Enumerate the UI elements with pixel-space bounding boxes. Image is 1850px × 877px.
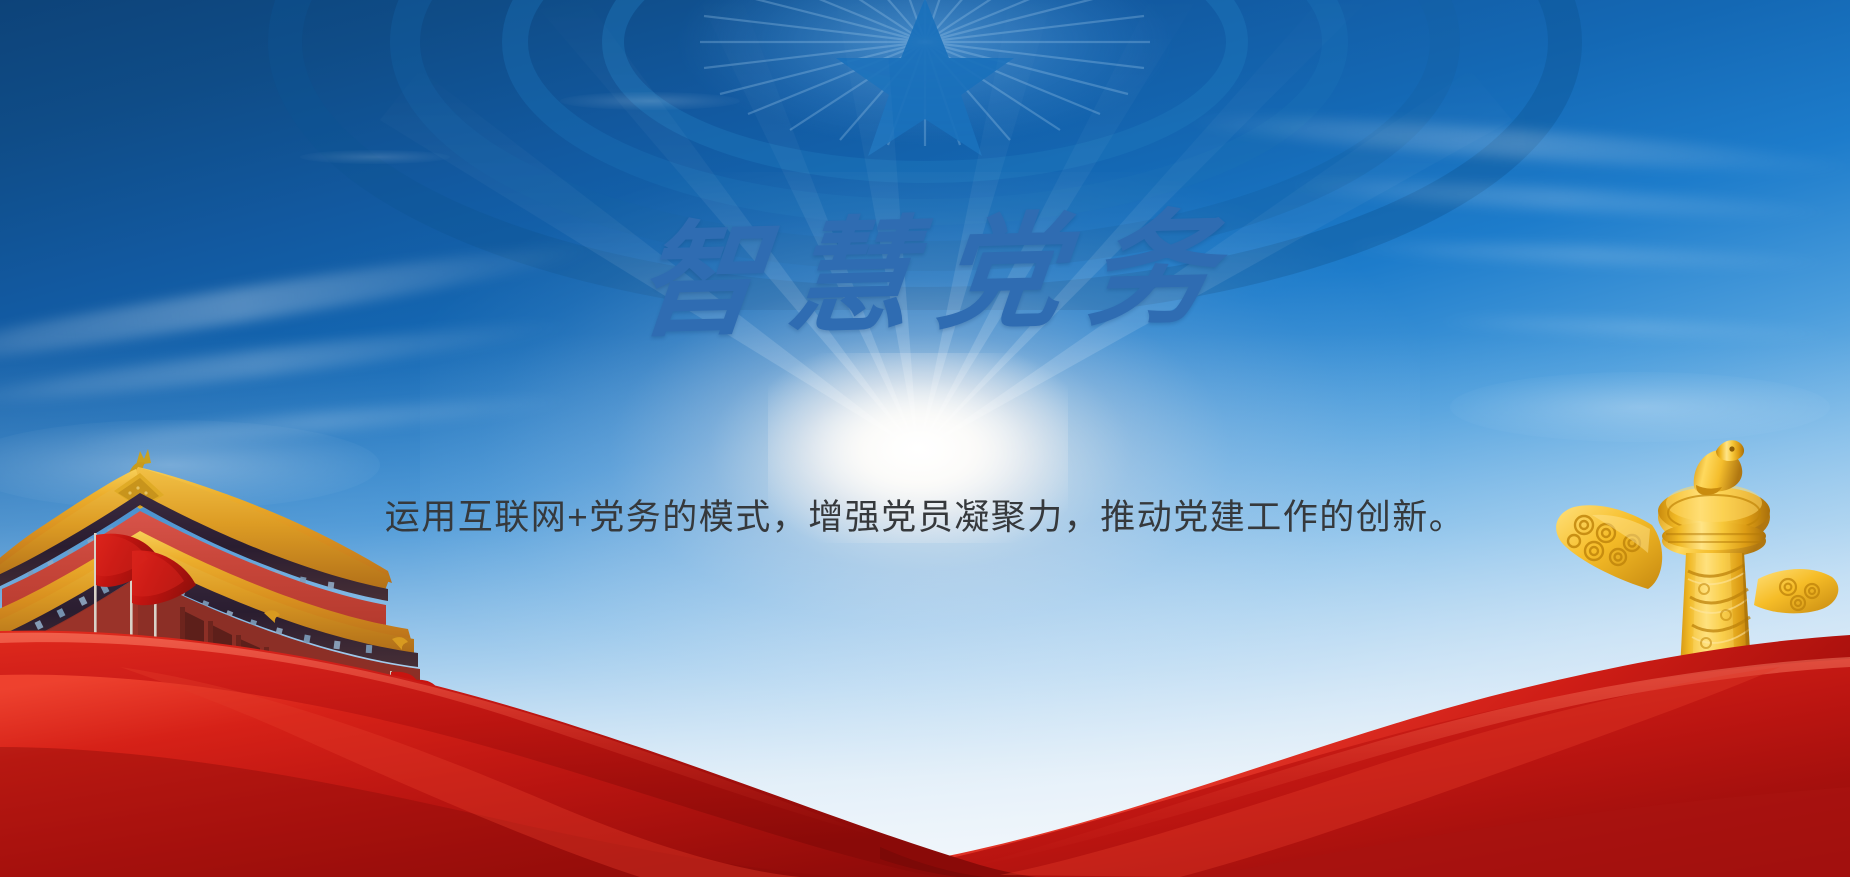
party-affairs-banner: 智慧党务 运用互联网+党务的模式，增强党员凝聚力，推动党建工作的创新。 xyxy=(0,0,1850,877)
cloud-wing-left xyxy=(1556,505,1662,589)
red-silk-ribbon xyxy=(0,597,1850,877)
round-disc xyxy=(1658,484,1770,558)
